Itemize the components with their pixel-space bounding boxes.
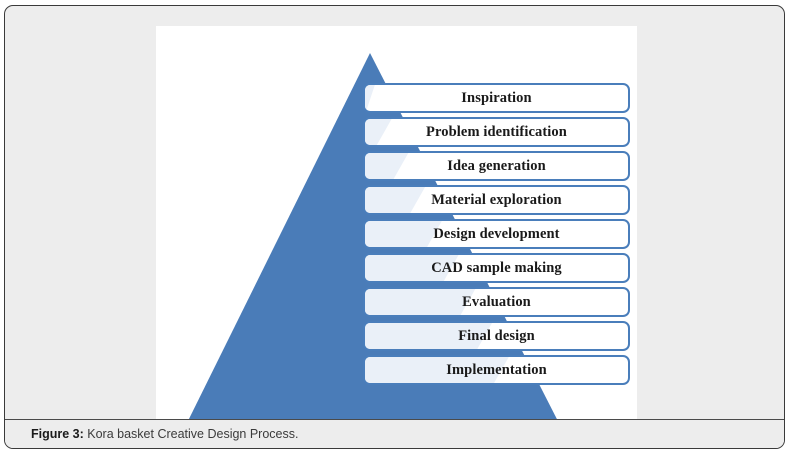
figure-frame: Inspiration Problem identification Idea … [4,5,785,449]
process-stage-list: Inspiration Problem identification Idea … [363,83,630,396]
figure-caption-label: Figure 3: [31,427,84,441]
stage-label: Inspiration [461,90,531,107]
stage-label: Design development [433,226,559,243]
stage-box-4[interactable]: Material exploration [363,185,630,215]
stage-box-1[interactable]: Inspiration [363,83,630,113]
stage-label: Final design [458,328,535,345]
stage-label: Implementation [446,362,546,379]
stage-box-7[interactable]: Evaluation [363,287,630,317]
stage-label: CAD sample making [431,260,562,277]
stage-label: Evaluation [462,294,531,311]
stage-box-9[interactable]: Implementation [363,355,630,385]
stage-label: Idea generation [447,158,546,175]
figure-caption-bar: Figure 3: Kora basket Creative Design Pr… [5,419,784,448]
stage-box-5[interactable]: Design development [363,219,630,249]
stage-box-3[interactable]: Idea generation [363,151,630,181]
stage-box-8[interactable]: Final design [363,321,630,351]
diagram-canvas: Inspiration Problem identification Idea … [156,26,637,426]
stage-label: Material exploration [431,192,561,209]
figure-caption: Figure 3: Kora basket Creative Design Pr… [5,427,298,441]
figure-caption-body: Kora basket Creative Design Process. [84,427,299,441]
stage-label: Problem identification [426,124,567,141]
stage-box-6[interactable]: CAD sample making [363,253,630,283]
stage-box-2[interactable]: Problem identification [363,117,630,147]
